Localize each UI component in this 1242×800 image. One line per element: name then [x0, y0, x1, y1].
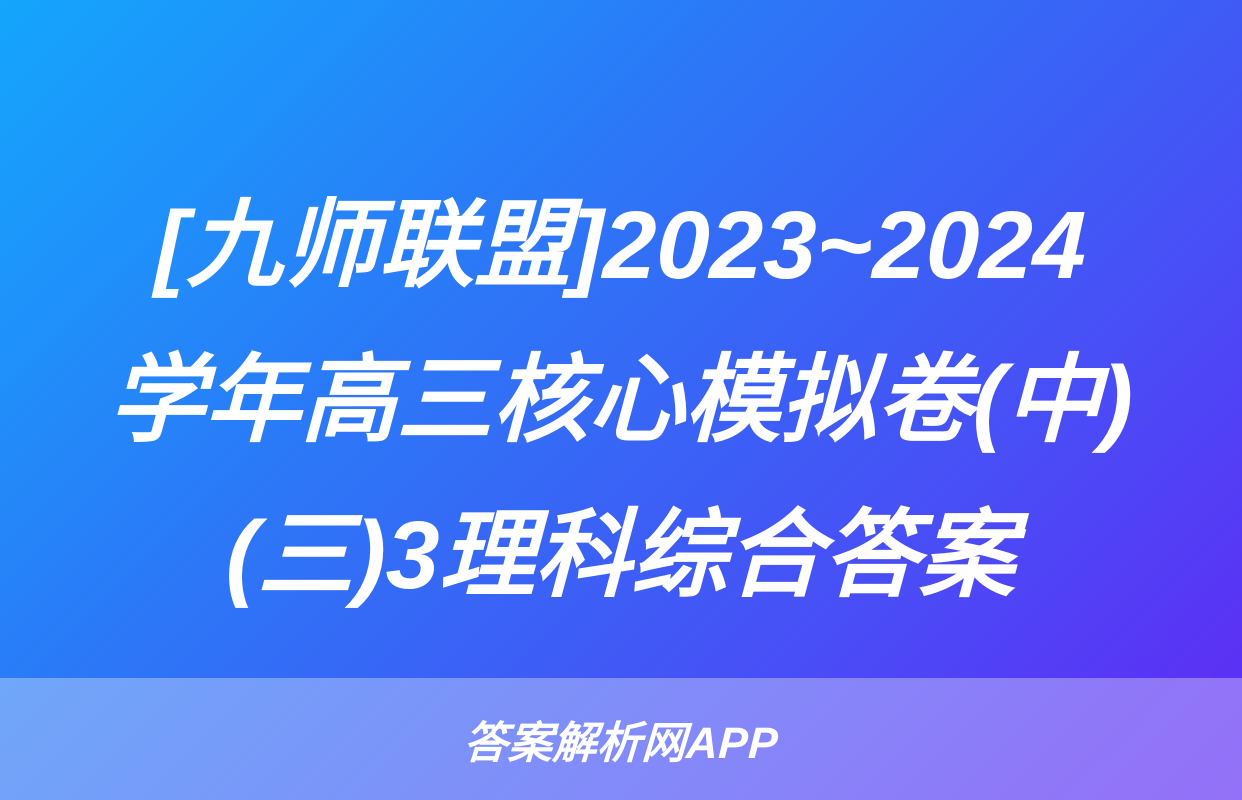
title-line-2: 学年高三核心模拟卷(中): [108, 323, 1135, 478]
title-line-1: [九师联盟]2023~2024: [154, 168, 1088, 323]
poster-canvas: [九师联盟]2023~2024 学年高三核心模拟卷(中) (三)3理科综合答案 …: [0, 0, 1242, 800]
title-line-3: (三)3理科综合答案: [225, 478, 1017, 633]
watermark-label: 答案解析网APP: [462, 707, 780, 771]
watermark-band: 答案解析网APP: [0, 678, 1242, 800]
title-block: [九师联盟]2023~2024 学年高三核心模拟卷(中) (三)3理科综合答案: [0, 168, 1242, 633]
